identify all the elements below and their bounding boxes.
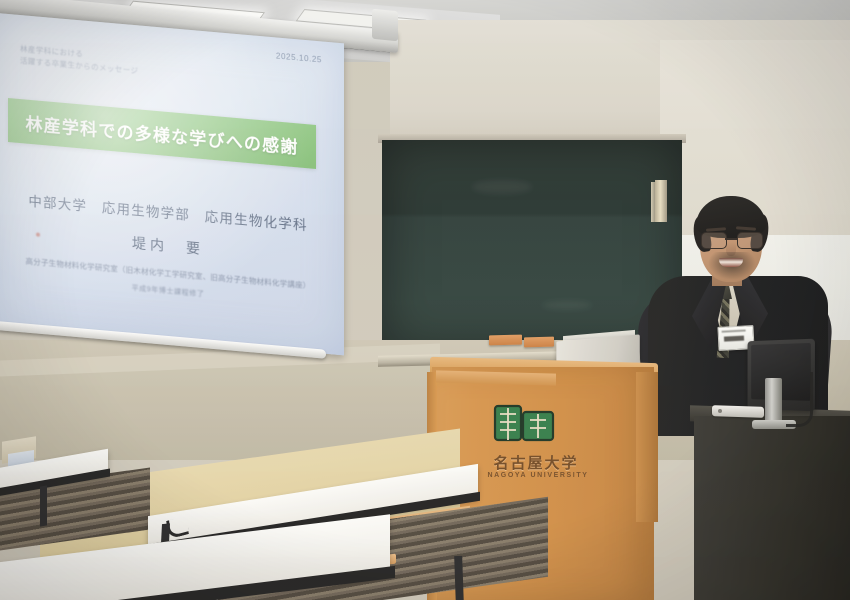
chalk-eraser — [524, 337, 554, 348]
nagoya-university-emblem-icon — [490, 400, 568, 446]
name-badge-line2 — [724, 336, 744, 342]
chalk-smudge — [542, 300, 592, 310]
screen-surface: 2025.10.25 林産学科における 活躍する卒業生からのメッセージ 林産学科… — [0, 13, 344, 356]
desk-leg — [454, 556, 464, 600]
podium-university-name-ja: 名古屋大学 — [476, 452, 596, 473]
av-counter — [694, 416, 850, 600]
projection-screen: 2025.10.25 林産学科における 活躍する卒業生からのメッセージ 林産学科… — [0, 13, 344, 374]
screen-roller-cap — [372, 9, 398, 41]
mouth-smiling — [719, 258, 743, 267]
slide-title-band: 林産学科での多様な学びへの感謝 — [8, 98, 316, 169]
name-badge-line1 — [722, 329, 746, 332]
slide-eyebrow: 林産学科における 活躍する卒業生からのメッセージ — [20, 43, 138, 77]
slide-date: 2025.10.25 — [276, 51, 322, 64]
lens-right — [737, 232, 763, 249]
podium-university-name-en: NAGOYA UNIVERSITY — [476, 472, 600, 479]
lens-left — [701, 232, 727, 249]
slide-title: 林産学科での多様な学びへの感謝 — [26, 109, 299, 158]
chalk-smudge — [472, 180, 532, 194]
chalk-eraser — [489, 335, 522, 346]
presentation-slide: 2025.10.25 林産学科における 活躍する卒業生からのメッセージ 林産学科… — [0, 13, 344, 356]
chalkboard — [382, 140, 682, 356]
cable — [786, 372, 813, 427]
desk-leg — [40, 485, 47, 526]
nu-emblem-svg — [490, 400, 568, 446]
lecture-hall-photo: 2025.10.25 林産学科における 活躍する卒業生からのメッセージ 林産学科… — [0, 0, 850, 600]
monitor-stand — [765, 378, 782, 426]
podium-right-panel — [636, 372, 658, 522]
remote-button — [718, 409, 722, 413]
glasses-bridge — [725, 238, 737, 240]
